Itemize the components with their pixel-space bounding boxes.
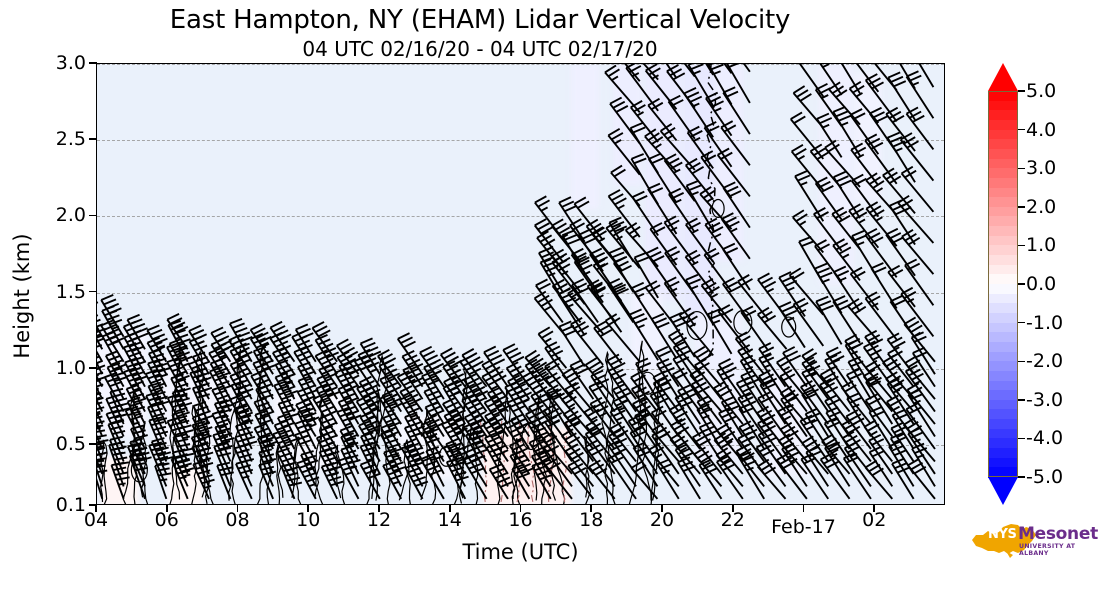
colorbar-tick-mark xyxy=(1018,476,1025,478)
wind-barb xyxy=(611,166,640,206)
x-axis-tick-mark xyxy=(237,505,239,512)
wind-barb xyxy=(426,447,444,486)
x-axis-tick-mark xyxy=(803,505,805,512)
colorbar-tick-mark xyxy=(1018,322,1025,324)
wind-barb xyxy=(193,461,214,499)
y-axis-tick-label: 2.0 xyxy=(34,204,86,226)
wind-barb xyxy=(172,456,191,499)
logo-tagline-text: UNIVERSITY AT ALBANY xyxy=(1019,543,1096,557)
wind-barb xyxy=(726,64,750,103)
wind-barb xyxy=(568,460,593,499)
colorbar-outline xyxy=(988,91,1018,477)
wind-barb xyxy=(816,297,842,345)
x-axis-tick-mark xyxy=(520,505,522,512)
colorbar-tick-mark xyxy=(1018,245,1025,247)
x-axis-tick-mark xyxy=(590,505,592,512)
y-axis-tick-label: 3.0 xyxy=(34,52,86,74)
logo-brand-text: Mesonet xyxy=(1018,524,1098,544)
colorbar-tick-label: -2.0 xyxy=(1026,350,1063,372)
wind-barb xyxy=(589,460,615,499)
x-axis-tick-mark xyxy=(307,505,309,512)
wind-barb xyxy=(383,461,403,499)
wind-barb xyxy=(708,309,732,354)
x-axis-tick-label: 12 xyxy=(349,509,409,531)
y-axis-tick-mark xyxy=(89,138,97,140)
wind-barb xyxy=(913,348,935,387)
colorbar-tick-label: -4.0 xyxy=(1026,427,1063,449)
y-axis-tick-mark xyxy=(89,62,97,64)
y-axis-tick-label: 0.5 xyxy=(34,433,86,455)
x-axis-tick-mark xyxy=(661,505,663,512)
colorbar-tick-mark xyxy=(1018,168,1025,170)
wind-barb xyxy=(801,381,828,424)
wind-barb xyxy=(626,64,658,111)
colorbar-tick-mark xyxy=(1018,399,1025,401)
colorbar-tick-mark xyxy=(1018,129,1025,131)
colorbar-tick-label: 3.0 xyxy=(1026,157,1056,179)
x-axis-tick-label: 18 xyxy=(561,509,621,531)
colorbar-extend-max-arrow xyxy=(988,63,1018,91)
wind-barb xyxy=(193,402,213,437)
colorbar-tick-label: 0.0 xyxy=(1026,273,1056,295)
wind-barb xyxy=(675,393,700,437)
x-axis-tick-mark xyxy=(873,505,875,512)
wind-barbs xyxy=(97,64,944,505)
colorbar-tick-label: 1.0 xyxy=(1026,234,1056,256)
wind-barb xyxy=(678,457,700,499)
wind-barb xyxy=(97,438,107,474)
plot-area xyxy=(96,63,945,505)
colorbar-tick-label: 5.0 xyxy=(1026,80,1056,102)
x-axis-tick-mark xyxy=(166,505,168,512)
wind-barb xyxy=(406,463,428,499)
colorbar-tick-mark xyxy=(1018,438,1025,440)
colorbar xyxy=(988,63,1018,505)
colorbar-tick-label: -3.0 xyxy=(1026,389,1063,411)
wind-barb xyxy=(259,462,276,499)
y-axis-tick-mark xyxy=(89,367,97,369)
wind-barb xyxy=(298,376,318,412)
wind-barb xyxy=(322,463,344,499)
wind-barb xyxy=(783,347,807,387)
wind-barb xyxy=(652,314,677,359)
x-axis-tick-label: 06 xyxy=(137,509,197,531)
x-axis-tick-label: 16 xyxy=(491,509,551,531)
x-axis-tick-mark xyxy=(449,505,451,512)
x-axis-tick-label: 20 xyxy=(632,509,692,531)
wind-barb xyxy=(297,459,319,499)
wind-barb xyxy=(490,464,513,499)
wind-barb xyxy=(485,433,508,474)
x-axis-tick-label: 22 xyxy=(703,509,763,531)
colorbar-tick-label: 4.0 xyxy=(1026,119,1056,141)
wind-barb xyxy=(781,394,807,437)
logo-nys-text: NYS xyxy=(988,527,1016,542)
wind-barb xyxy=(833,107,860,156)
colorbar-tick-mark xyxy=(1018,90,1025,92)
x-axis-tick-mark xyxy=(732,505,734,512)
wind-barb xyxy=(217,463,234,499)
colorbar-tick-mark xyxy=(1018,283,1025,285)
x-axis-tick-label: 02 xyxy=(844,509,904,531)
wind-barb xyxy=(717,456,743,499)
y-axis-tick-mark xyxy=(89,443,97,445)
x-axis-tick-label: 08 xyxy=(208,509,268,531)
x-axis-tick-mark xyxy=(378,505,380,512)
nys-mesonet-logo: NYS Mesonet UNIVERSITY AT ALBANY xyxy=(966,518,1096,566)
colorbar-tick-label: -1.0 xyxy=(1026,312,1063,334)
y-axis-tick-mark xyxy=(89,215,97,217)
figure-canvas: East Hampton, NY (EHAM) Lidar Vertical V… xyxy=(0,0,1101,600)
y-axis-title: Height (km) xyxy=(10,186,34,406)
y-axis-tick-label: 1.0 xyxy=(34,357,86,379)
wind-barb xyxy=(126,406,145,449)
colorbar-tick-mark xyxy=(1018,361,1025,363)
colorbar-tick-label: 2.0 xyxy=(1026,196,1056,218)
y-axis-tick-mark xyxy=(89,291,97,293)
x-axis-tick-label: 14 xyxy=(420,509,480,531)
wind-barb xyxy=(912,444,935,487)
x-axis-tick-label: Feb-17 xyxy=(759,516,849,538)
colorbar-extend-min-arrow xyxy=(988,477,1018,505)
x-axis-tick-mark xyxy=(95,505,97,512)
y-axis-tick-label: 1.5 xyxy=(34,281,86,303)
x-axis-tick-label: 10 xyxy=(278,509,338,531)
y-axis-tick-label: 2.5 xyxy=(34,128,86,150)
x-axis-tick-label: 04 xyxy=(66,509,126,531)
x-axis-title: Time (UTC) xyxy=(96,540,945,564)
wind-barb xyxy=(341,446,360,487)
wind-barb xyxy=(532,461,552,499)
colorbar-tick-label: -5.0 xyxy=(1026,466,1063,488)
colorbar-tick-mark xyxy=(1018,206,1025,208)
wind-barb xyxy=(794,64,823,97)
wind-barb xyxy=(870,447,893,487)
